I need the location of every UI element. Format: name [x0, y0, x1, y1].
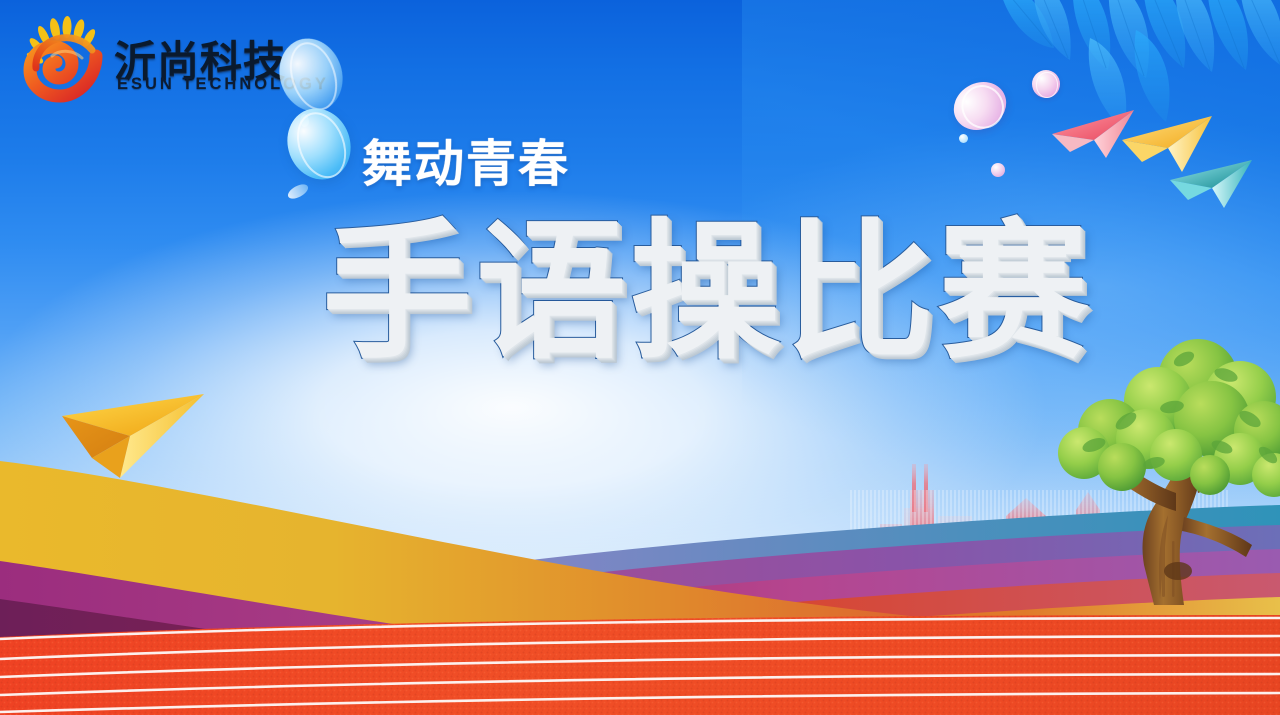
tiny-bubble-icon-1	[959, 134, 968, 143]
poster-main-title: 手语操比赛	[322, 218, 1092, 368]
brand-logo[interactable]: 沂尚科技 ESUN TECHNOLOGY	[22, 14, 322, 106]
paper-plane-teal-icon	[1168, 156, 1254, 212]
poster-subtitle: 舞动青春	[362, 124, 570, 196]
pink-balloon-small-icon	[1032, 70, 1060, 98]
tiny-bubble-icon-2	[991, 163, 1005, 177]
poster-canvas: 沂尚科技 ESUN TECHNOLOGY	[0, 0, 1280, 715]
sun-swirl-icon	[22, 16, 112, 104]
running-track	[0, 615, 1280, 715]
